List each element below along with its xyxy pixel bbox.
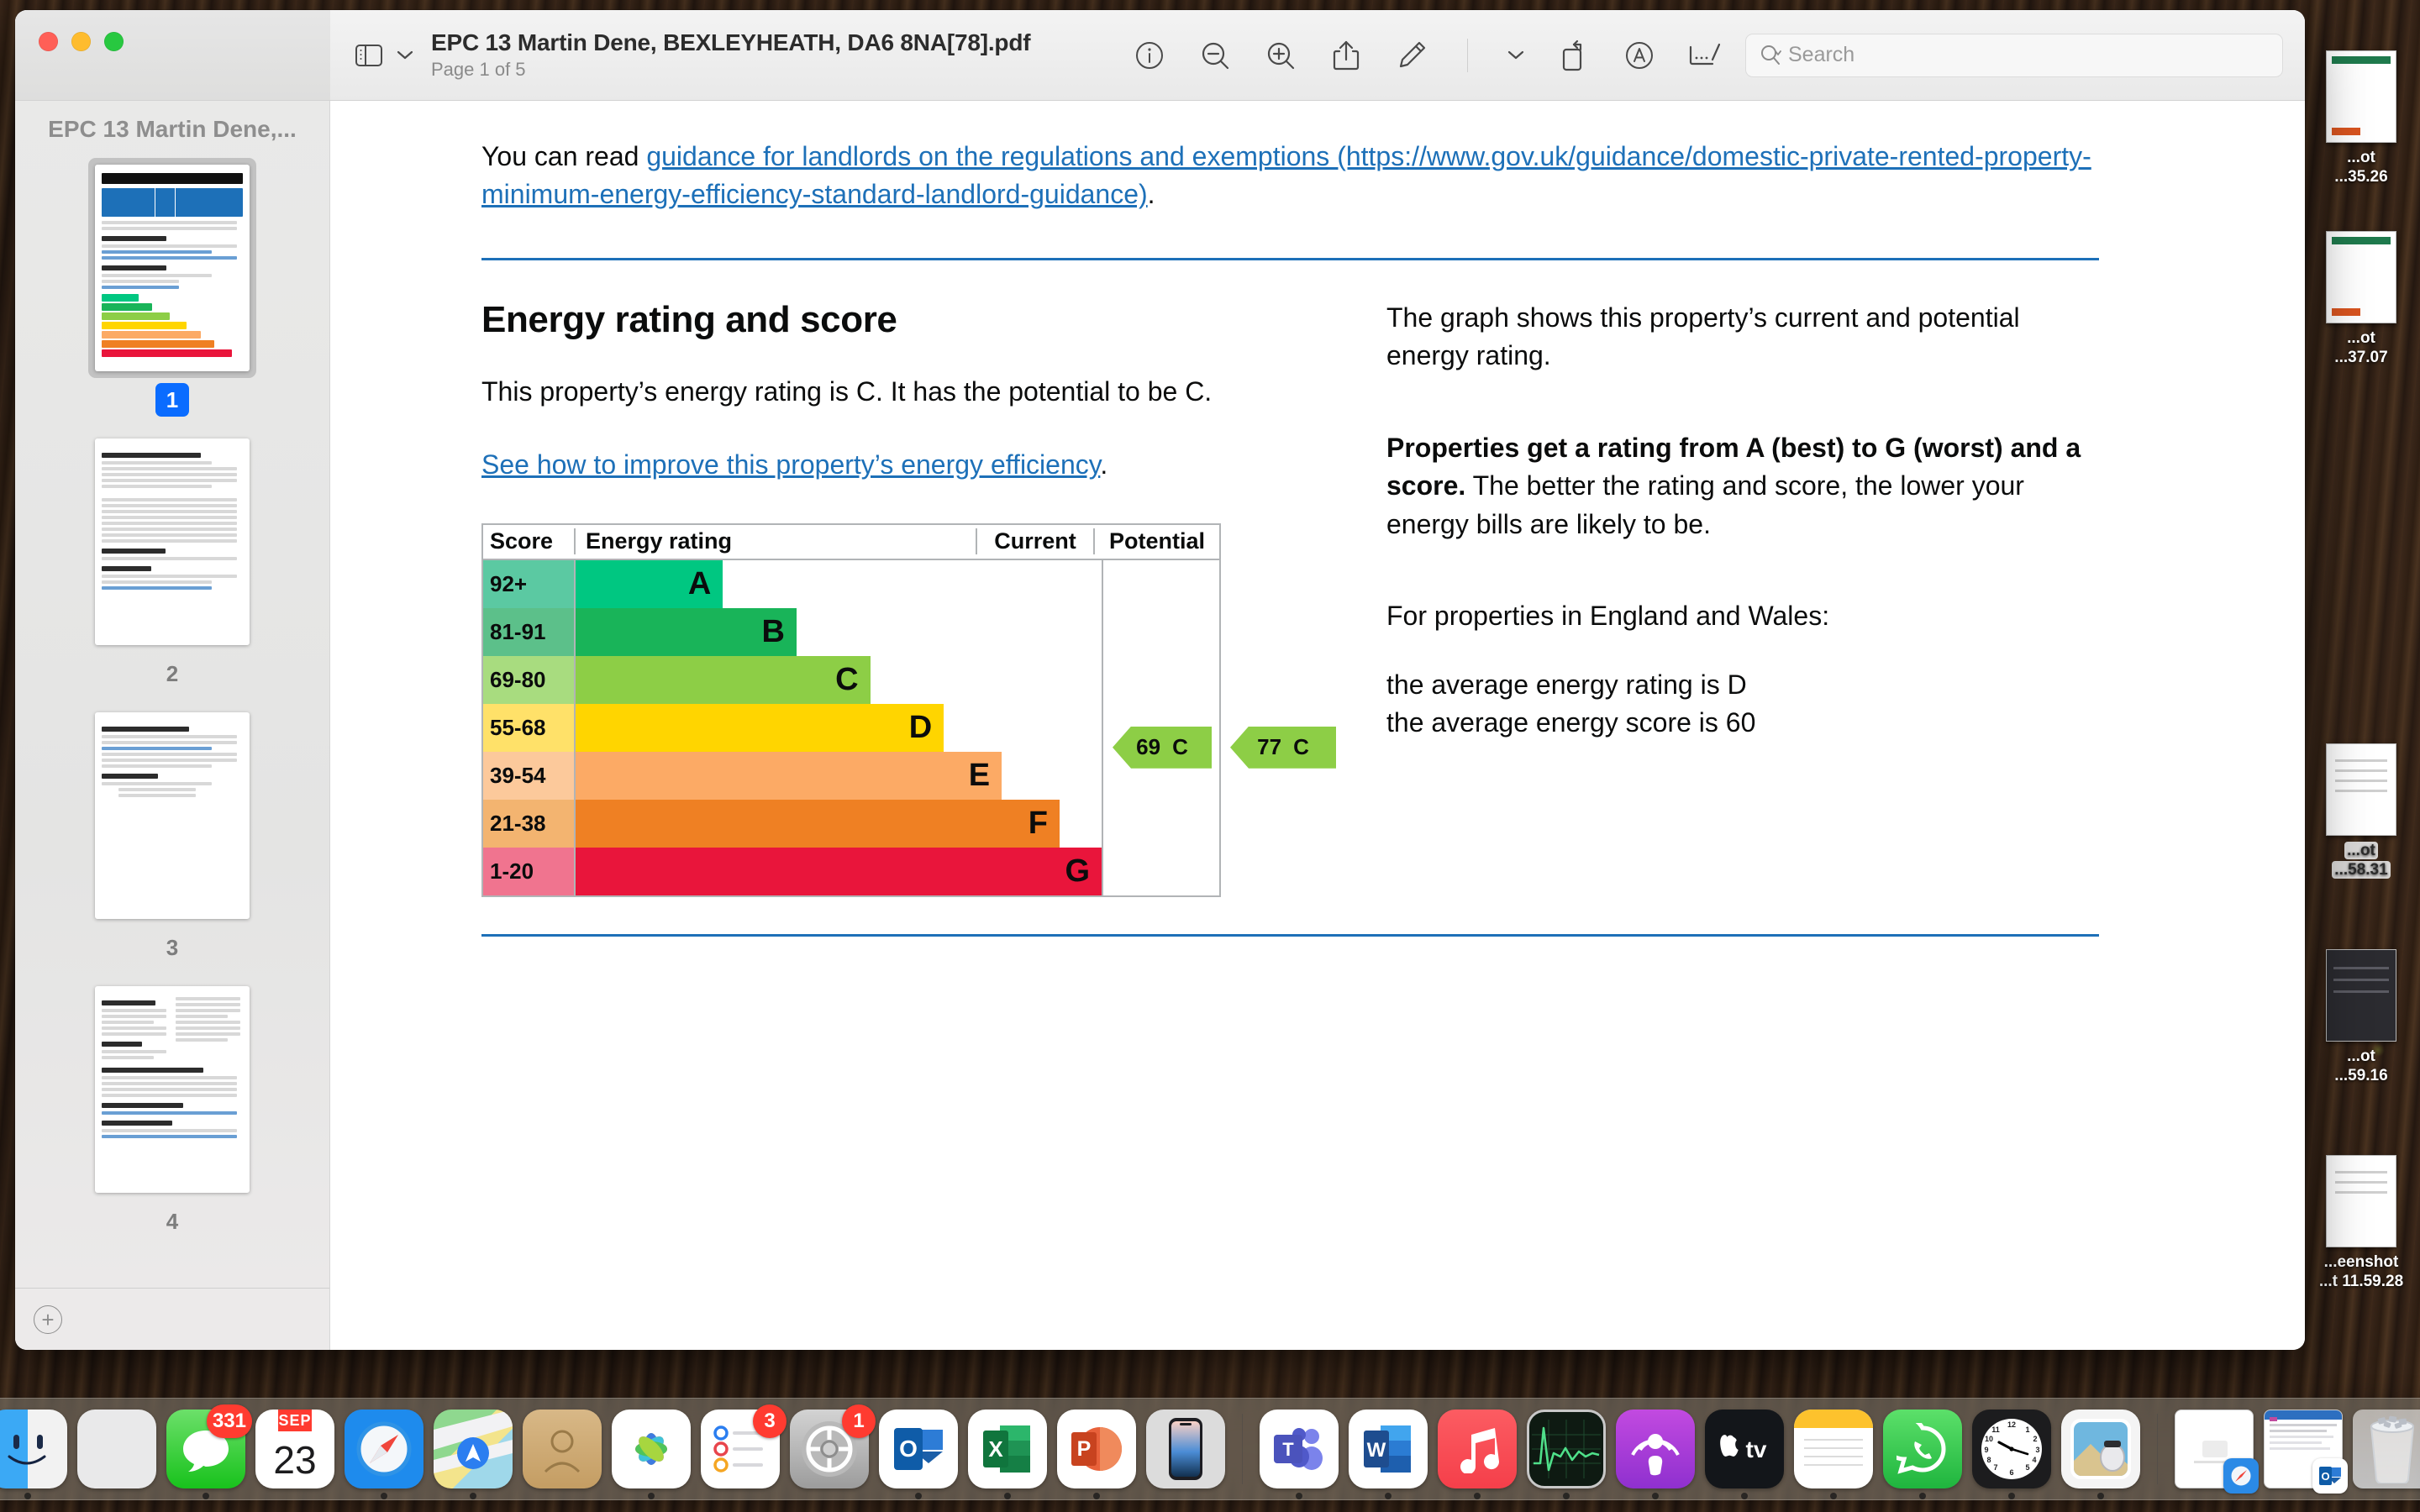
dock-item-apple-tv[interactable]: tv: [1705, 1410, 1784, 1488]
bar-c: C: [576, 656, 871, 704]
plus-icon: +: [41, 1309, 54, 1331]
sidebar-footer: +: [15, 1288, 329, 1350]
chart-row-d: 55-68 D: [483, 704, 1102, 752]
improve-efficiency-link[interactable]: See how to improve this property’s energ…: [481, 449, 1100, 480]
section-heading: Energy rating and score: [481, 299, 1326, 341]
running-indicator: [24, 1493, 31, 1499]
bar-d: D: [576, 704, 944, 752]
dock-item-contacts[interactable]: [523, 1410, 602, 1488]
running-indicator: [1919, 1493, 1926, 1499]
dock-item-podcasts[interactable]: [1616, 1410, 1695, 1488]
running-indicator: [648, 1493, 655, 1499]
running-indicator: [2008, 1493, 2015, 1499]
file-label: ...ot ...37.07: [2298, 329, 2420, 368]
dock-item-word[interactable]: W: [1349, 1410, 1428, 1488]
safari-icon: [345, 1410, 423, 1488]
section-divider-top: [481, 258, 2099, 260]
dock-item-finder[interactable]: [0, 1410, 67, 1488]
svg-text:T: T: [1282, 1439, 1294, 1460]
running-indicator: [915, 1493, 922, 1499]
svg-text:7: 7: [1993, 1463, 1997, 1472]
markup-chevron-down-icon[interactable]: [1502, 34, 1530, 77]
two-column-layout: Energy rating and score This property’s …: [481, 299, 2229, 897]
dock-item-reminders[interactable]: 3: [701, 1410, 780, 1488]
dock-item-safari[interactable]: [345, 1410, 423, 1488]
chevron-down-icon[interactable]: [391, 34, 419, 77]
score-band-b: 81-91: [483, 608, 574, 656]
page-preview: [95, 712, 250, 919]
running-indicator: [1652, 1493, 1659, 1499]
bar-e: E: [576, 752, 1002, 800]
potential-rating-column: 77 C: [1219, 560, 1345, 895]
settings-badge: 1: [842, 1404, 876, 1438]
header-current: Current: [976, 528, 1093, 554]
sidebar-toggle-icon[interactable]: [347, 34, 391, 77]
current-rating-column: 69 C: [1102, 560, 1219, 895]
search-icon: [1760, 44, 1781, 67]
dock-item-messages[interactable]: 331: [166, 1410, 245, 1488]
messages-badge: 331: [207, 1404, 252, 1438]
sidebar-title: EPC 13 Martin Dene,...: [15, 101, 329, 151]
dock-item-preview[interactable]: [2061, 1410, 2140, 1488]
file-label: ...ot ...35.26: [2298, 149, 2420, 187]
running-indicator: [1296, 1493, 1302, 1499]
launchpad-icon: [77, 1410, 156, 1488]
finder-icon: [0, 1410, 67, 1488]
svg-text:X: X: [988, 1436, 1003, 1462]
dock-item-clock[interactable]: 12123 4567 891011: [1972, 1410, 2051, 1488]
whatsapp-icon: [1883, 1410, 1962, 1488]
svg-text:O: O: [899, 1436, 918, 1462]
window-controls: [39, 32, 124, 51]
excel-icon: X: [968, 1410, 1047, 1488]
thumbnail-frame: [88, 158, 256, 378]
notes-icon: [1794, 1410, 1873, 1488]
file-thumbnail: [2326, 50, 2396, 143]
intro-trailing: .: [1148, 179, 1155, 209]
chart-row-f: 21-38 F: [483, 800, 1102, 848]
header-score: Score: [483, 528, 574, 554]
svg-text:9: 9: [1984, 1446, 1988, 1454]
thumbnail-frame: [88, 432, 256, 652]
bar-b: B: [576, 608, 797, 656]
svg-text:12: 12: [2007, 1420, 2016, 1429]
score-band-g: 1-20: [483, 848, 574, 895]
dock-divider-2: [2157, 1414, 2158, 1484]
svg-text:2: 2: [2033, 1435, 2037, 1443]
outlook-icon: O: [879, 1410, 958, 1488]
running-indicator: [2097, 1493, 2104, 1499]
svg-text:1: 1: [2025, 1425, 2029, 1434]
preview-window: EPC 13 Martin Dene, BEXLEYHEATH, DA6 8NA…: [15, 10, 2305, 1350]
dock-item-excel[interactable]: X: [968, 1410, 1047, 1488]
dock-item-trash[interactable]: [2353, 1410, 2420, 1488]
dock-minimized-safari-window[interactable]: [2175, 1410, 2254, 1488]
svg-text:P: P: [1077, 1437, 1092, 1461]
svg-text:W: W: [1367, 1439, 1386, 1462]
zoom-out-icon[interactable]: [1193, 34, 1237, 77]
dock-item-photos[interactable]: [612, 1410, 691, 1488]
thumbnail-page-number: 1: [155, 383, 189, 417]
graph-explanation: The graph shows this property’s current …: [1386, 299, 2096, 375]
chart-body: 92+ A 81-91 B 69-80 C: [483, 560, 1219, 895]
desktop-file-5[interactable]: ...eenshot ...t 11.59.28: [2298, 1155, 2420, 1292]
intro-paragraph: You can read guidance for landlords on t…: [481, 138, 2128, 214]
intro-lead: You can read: [481, 141, 646, 171]
toolbar-icon-group: [1128, 34, 1727, 77]
running-indicator: [203, 1493, 209, 1499]
running-indicator: [470, 1493, 476, 1499]
desktop-file-4[interactable]: ...ot ...59.16: [2298, 949, 2420, 1086]
dock-item-calendar[interactable]: SEP 23: [255, 1410, 334, 1488]
music-icon: [1438, 1410, 1517, 1488]
svg-text:O: O: [2321, 1470, 2329, 1483]
chart-header-row: Score Energy rating Current Potential: [483, 525, 1219, 560]
current-score: 69: [1136, 734, 1160, 760]
thumbnail-frame: [88, 706, 256, 926]
header-potential: Potential: [1093, 528, 1219, 554]
bar-g: G: [576, 848, 1102, 895]
sidebar-page-thumbnail-1[interactable]: 1: [15, 158, 329, 417]
file-thumbnail: [2326, 1155, 2396, 1247]
dock-item-launchpad[interactable]: [77, 1410, 156, 1488]
word-icon: W: [1349, 1410, 1428, 1488]
bar-f: F: [576, 800, 1060, 848]
file-thumbnail: [2326, 743, 2396, 836]
page-preview: [95, 438, 250, 645]
dock-item-outlook[interactable]: O: [879, 1410, 958, 1488]
desktop-file-2[interactable]: ...ot ...37.07: [2298, 231, 2420, 368]
thumbnail-sidebar[interactable]: EPC 13 Martin Dene,...: [15, 101, 330, 1350]
svg-text:11: 11: [1991, 1425, 2000, 1434]
chart-row-e: 39-54 E: [483, 752, 1102, 800]
dock-minimized-outlook-window[interactable]: O: [2264, 1410, 2343, 1488]
chart-row-a: 92+ A: [483, 560, 1102, 608]
maximize-button[interactable]: [104, 32, 124, 51]
score-band-e: 39-54: [483, 752, 574, 800]
running-indicator: [1563, 1493, 1570, 1499]
svg-text:6: 6: [2009, 1468, 2013, 1477]
contacts-icon: [523, 1410, 602, 1488]
window-body: EPC 13 Martin Dene,...: [15, 101, 2305, 1350]
potential-letter: C: [1293, 734, 1309, 760]
score-band-a: 92+: [483, 560, 574, 608]
zoom-in-icon[interactable]: [1259, 34, 1302, 77]
sidebar-page-thumbnail-2[interactable]: 2: [15, 432, 329, 690]
photos-icon: [612, 1410, 691, 1488]
maps-icon: [434, 1410, 513, 1488]
current-letter: C: [1172, 734, 1188, 760]
file-label: ...eenshot ...t 11.59.28: [2298, 1253, 2420, 1292]
page-title: EPC 13 Martin Dene, BEXLEYHEATH, DA6 8NA…: [431, 29, 1030, 56]
titlebar-toolbar: EPC 13 Martin Dene, BEXLEYHEATH, DA6 8NA…: [330, 10, 2305, 100]
preview-icon: [2061, 1410, 2140, 1488]
svg-text:tv: tv: [1746, 1436, 1767, 1462]
chart-row-b: 81-91 B: [483, 608, 1102, 656]
section-divider-bottom: [481, 934, 2099, 937]
energy-rating-chart: Score Energy rating Current Potential 92…: [481, 523, 1221, 897]
score-band-f: 21-38: [483, 800, 574, 848]
annotate-a-icon[interactable]: [1618, 34, 1661, 77]
markup-pen-icon[interactable]: [1390, 34, 1434, 77]
thumbnail-page-number: 2: [155, 657, 189, 690]
running-indicator: [1830, 1493, 1837, 1499]
close-button[interactable]: [39, 32, 58, 51]
rating-summary-paragraph: This property’s energy rating is C. It h…: [481, 373, 1326, 411]
sidebar-page-thumbnail-3[interactable]: 3: [15, 706, 329, 964]
safari-badge-icon: [2223, 1458, 2259, 1494]
running-indicator: [1004, 1493, 1011, 1499]
svg-text:8: 8: [1986, 1456, 1991, 1464]
running-indicator: [381, 1493, 387, 1499]
thumbnail-frame: [88, 979, 256, 1200]
add-page-button[interactable]: +: [34, 1305, 62, 1334]
running-indicator: [1093, 1493, 1100, 1499]
sidebar-page-thumbnail-4[interactable]: 4: [15, 979, 329, 1238]
dock-item-maps[interactable]: [434, 1410, 513, 1488]
chart-row-c: 69-80 C: [483, 656, 1102, 704]
score-band-d: 55-68: [483, 704, 574, 752]
running-indicator: [1385, 1493, 1391, 1499]
svg-text:5: 5: [2025, 1463, 2029, 1472]
average-rating-line: the average energy rating is D: [1386, 666, 2096, 704]
thumbnail-page-number: 4: [155, 1205, 189, 1238]
search-placeholder: Search: [1788, 43, 1854, 67]
calendar-day: 23: [273, 1431, 316, 1488]
powerpoint-icon: P: [1057, 1410, 1136, 1488]
average-score-line: the average energy score is 60: [1386, 704, 2096, 742]
info-icon[interactable]: [1128, 34, 1171, 77]
toolbar-divider: [1467, 39, 1468, 72]
iphone-mirroring-icon: [1146, 1410, 1225, 1488]
thumbnail-page-number: 3: [155, 931, 189, 964]
document-canvas[interactable]: You can read guidance for landlords on t…: [330, 101, 2305, 1350]
running-indicator: [1474, 1493, 1481, 1499]
svg-text:10: 10: [1985, 1435, 1993, 1443]
document-title-block: EPC 13 Martin Dene, BEXLEYHEATH, DA6 8NA…: [431, 29, 1030, 81]
landlord-guidance-link[interactable]: guidance for landlords on the regulation…: [481, 141, 2091, 209]
window-titlebar[interactable]: EPC 13 Martin Dene, BEXLEYHEATH, DA6 8NA…: [15, 10, 2305, 101]
dock-item-activity-monitor[interactable]: [1527, 1410, 1606, 1488]
score-band-c: 69-80: [483, 656, 574, 704]
svg-text:4: 4: [2032, 1456, 2036, 1464]
potential-rating-badge: 77 C: [1230, 727, 1336, 769]
search-input[interactable]: Search: [1745, 34, 2283, 77]
desktop-file-3[interactable]: ...ot ...58.31: [2298, 743, 2420, 880]
share-icon[interactable]: [1324, 34, 1368, 77]
pdf-page-1: You can read guidance for landlords on t…: [330, 101, 2305, 937]
calendar-icon: SEP 23: [255, 1410, 334, 1488]
dock-divider-1: [1242, 1414, 1243, 1484]
right-column: The graph shows this property’s current …: [1386, 299, 2096, 897]
svg-text:3: 3: [2035, 1446, 2039, 1454]
file-label: ...ot ...59.16: [2298, 1047, 2420, 1086]
dock-item-notes[interactable]: [1794, 1410, 1873, 1488]
podcasts-icon: [1616, 1410, 1695, 1488]
rating-scale-rest: The better the rating and score, the low…: [1386, 470, 2024, 538]
clock-icon: 12123 4567 891011: [1972, 1410, 2051, 1488]
file-label: ...ot ...58.31: [2298, 842, 2420, 880]
calendar-month: SEP: [278, 1410, 311, 1431]
desktop-file-1[interactable]: ...ot ...35.26: [2298, 50, 2420, 187]
titlebar-left-segment: [15, 10, 330, 100]
chart-bands: 92+ A 81-91 B 69-80 C: [483, 560, 1102, 895]
bar-a: A: [576, 560, 723, 608]
running-indicator: [1741, 1493, 1748, 1499]
region-label: For properties in England and Wales:: [1386, 597, 2096, 635]
rotate-icon[interactable]: [1552, 34, 1596, 77]
dock-item-music[interactable]: [1438, 1410, 1517, 1488]
page-preview: [95, 986, 250, 1193]
signature-icon[interactable]: [1683, 34, 1727, 77]
dock-item-teams[interactable]: T: [1260, 1410, 1339, 1488]
file-thumbnail: [2326, 231, 2396, 323]
current-rating-badge: 69 C: [1113, 727, 1212, 769]
dock-item-powerpoint[interactable]: P: [1057, 1410, 1136, 1488]
outlook-badge-icon: O: [2312, 1458, 2348, 1494]
teams-icon: T: [1260, 1410, 1339, 1488]
dock-item-settings[interactable]: 1: [790, 1410, 869, 1488]
trash-icon: [2353, 1410, 2420, 1488]
dock: 331 SEP 23: [0, 1398, 2420, 1500]
dock-item-iphone-mirroring[interactable]: [1146, 1410, 1225, 1488]
file-thumbnail: [2326, 949, 2396, 1042]
sidebar-thumbnail-list[interactable]: 1: [15, 151, 329, 1288]
activity-monitor-icon: [1527, 1410, 1606, 1488]
page-indicator: Page 1 of 5: [431, 59, 526, 81]
potential-score: 77: [1257, 734, 1281, 760]
chart-row-g: 1-20 G: [483, 848, 1102, 895]
page-preview: [95, 165, 250, 371]
apple-tv-icon: tv: [1705, 1410, 1784, 1488]
rating-scale-explanation: Properties get a rating from A (best) to…: [1386, 429, 2096, 543]
improve-link-paragraph: See how to improve this property’s energ…: [481, 446, 1326, 484]
minimize-button[interactable]: [71, 32, 91, 51]
header-energy-rating: Energy rating: [574, 528, 976, 554]
left-column: Energy rating and score This property’s …: [481, 299, 1326, 897]
reminders-badge: 3: [753, 1404, 786, 1438]
dock-item-whatsapp[interactable]: [1883, 1410, 1962, 1488]
